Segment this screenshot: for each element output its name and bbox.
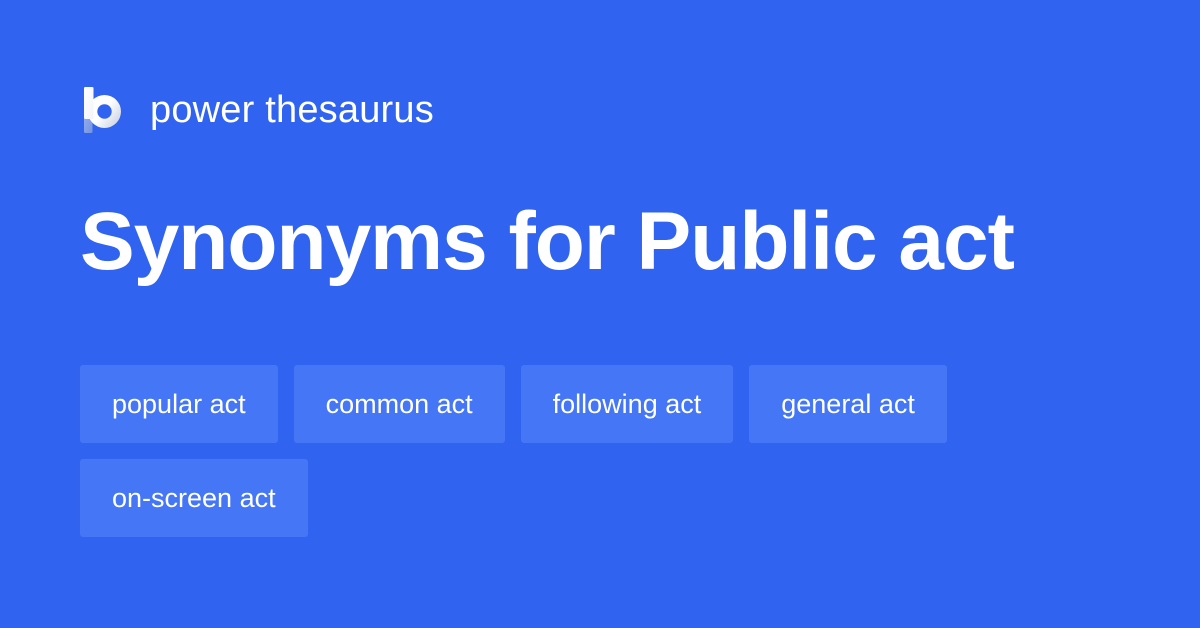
- synonym-chip[interactable]: on-screen act: [80, 459, 308, 537]
- brand-logo[interactable]: power thesaurus: [80, 82, 434, 138]
- power-thesaurus-logo-icon: [80, 85, 124, 135]
- synonym-chip-label: general act: [781, 388, 915, 420]
- page-title: Synonyms for Public act: [80, 196, 1014, 288]
- synonym-chip-label: following act: [553, 388, 702, 420]
- synonym-chip[interactable]: following act: [521, 365, 734, 443]
- synonym-chip[interactable]: general act: [749, 365, 947, 443]
- synonym-chip-label: on-screen act: [112, 482, 276, 514]
- brand-name: power thesaurus: [150, 88, 434, 132]
- synonym-chip-label: popular act: [112, 388, 246, 420]
- share-card: power thesaurus Synonyms for Public act …: [0, 0, 1200, 628]
- synonym-chip[interactable]: common act: [294, 365, 505, 443]
- synonym-chip[interactable]: popular act: [80, 365, 278, 443]
- synonym-chip-list: popular act common act following act gen…: [80, 365, 1120, 537]
- synonym-chip-label: common act: [326, 388, 473, 420]
